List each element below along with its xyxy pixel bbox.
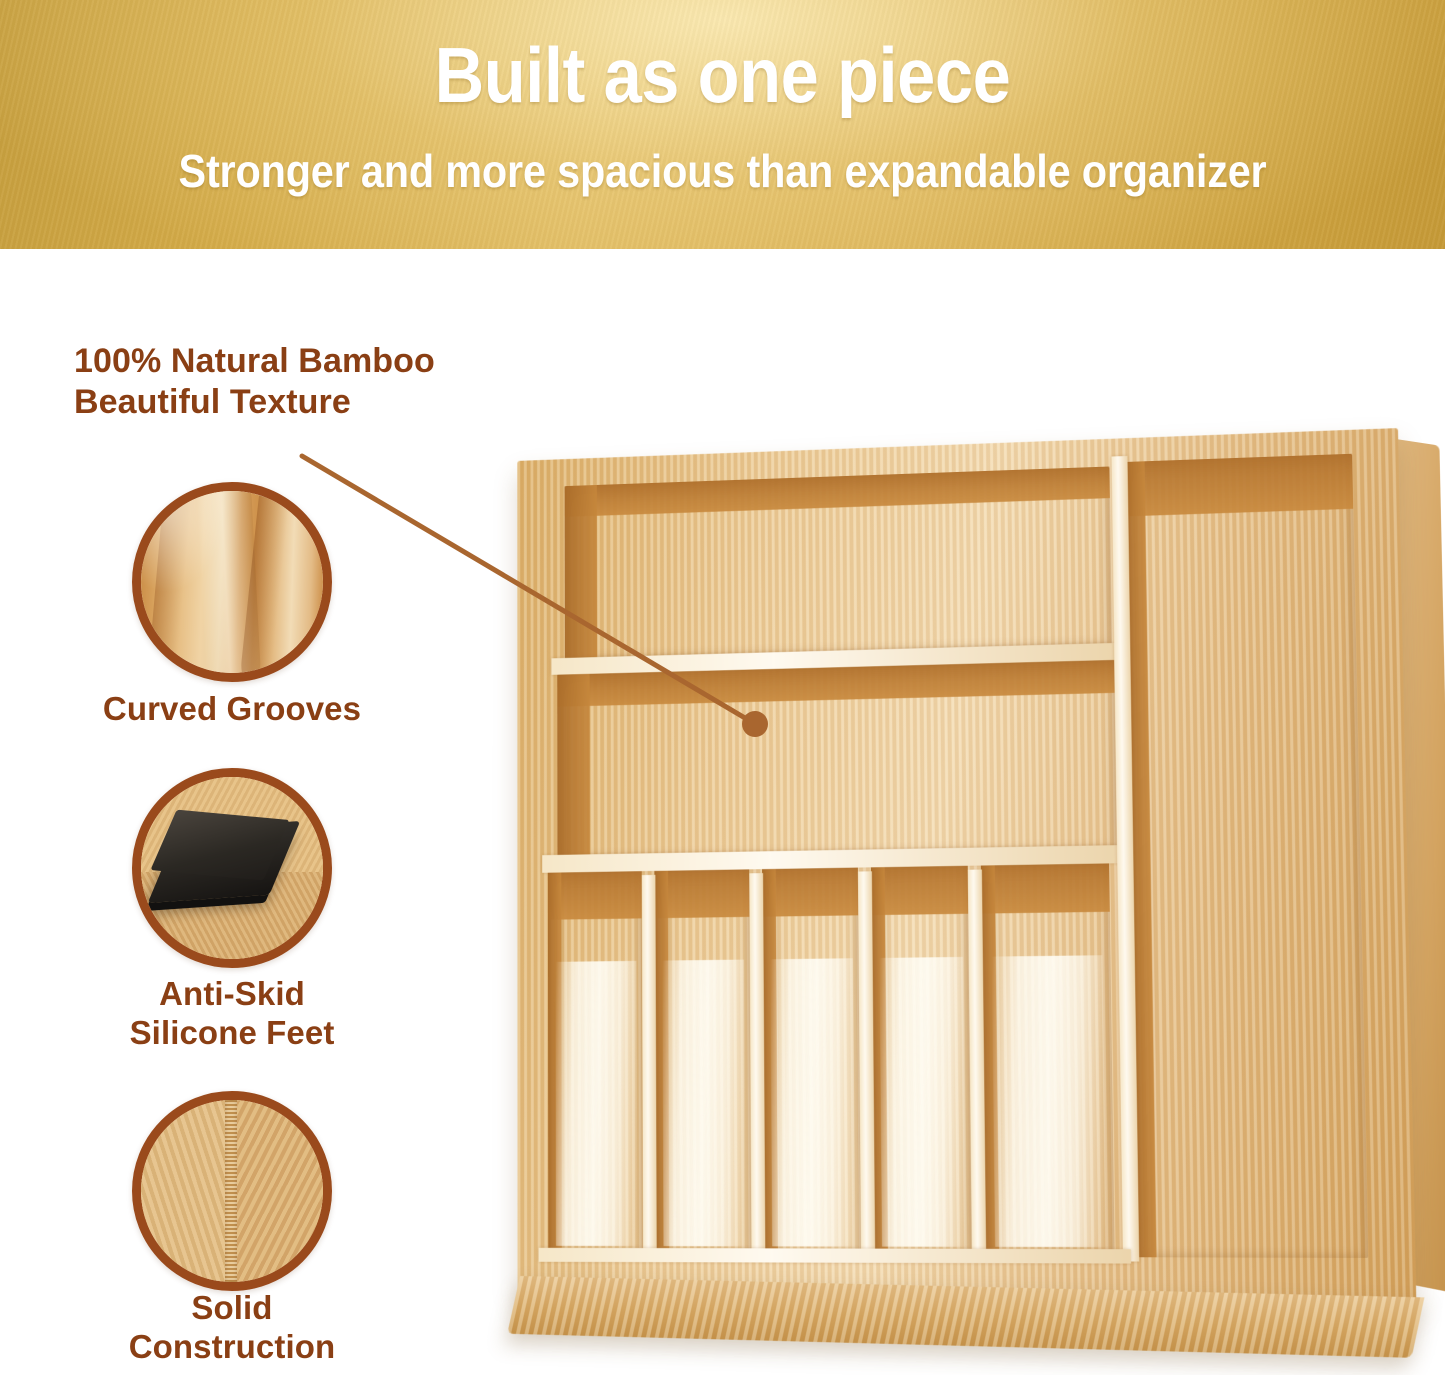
product-image-bamboo-drawer-organizer — [505, 440, 1400, 1295]
feature-badge-silicone-feet — [132, 768, 332, 968]
feature-badge-solid-construction — [132, 1091, 332, 1291]
feature-caption-solid-construction: Solid Construction — [52, 1289, 412, 1367]
feature-badge-curved-grooves — [132, 482, 332, 682]
banner-subtitle: Stronger and more spacious than expandab… — [72, 148, 1373, 194]
wood-grooves-icon — [141, 491, 323, 673]
feature-caption-curved-grooves: Curved Grooves — [52, 690, 412, 729]
callout-line-1: 100% Natural Bamboo — [74, 341, 594, 382]
silicone-foot-icon — [141, 777, 323, 959]
compartment-top-wide — [565, 466, 1113, 659]
utensil-slot-1 — [548, 869, 643, 1254]
utensil-slot-2 — [654, 867, 751, 1254]
caption-solid-line-1: Solid — [52, 1289, 412, 1328]
wood-corner-joint-icon — [141, 1100, 323, 1282]
header-banner: Built as one piece Stronger and more spa… — [0, 0, 1445, 249]
natural-bamboo-callout: 100% Natural Bamboo Beautiful Texture — [74, 341, 594, 424]
feature-caption-silicone-feet: Anti-Skid Silicone Feet — [52, 975, 412, 1053]
callout-line-2: Beautiful Texture — [74, 382, 594, 423]
caption-solid-line-2: Construction — [52, 1328, 412, 1367]
caption-feet-line-1: Anti-Skid — [52, 975, 412, 1014]
banner-title: Built as one piece — [87, 36, 1359, 114]
caption-feet-line-2: Silicone Feet — [52, 1014, 412, 1053]
